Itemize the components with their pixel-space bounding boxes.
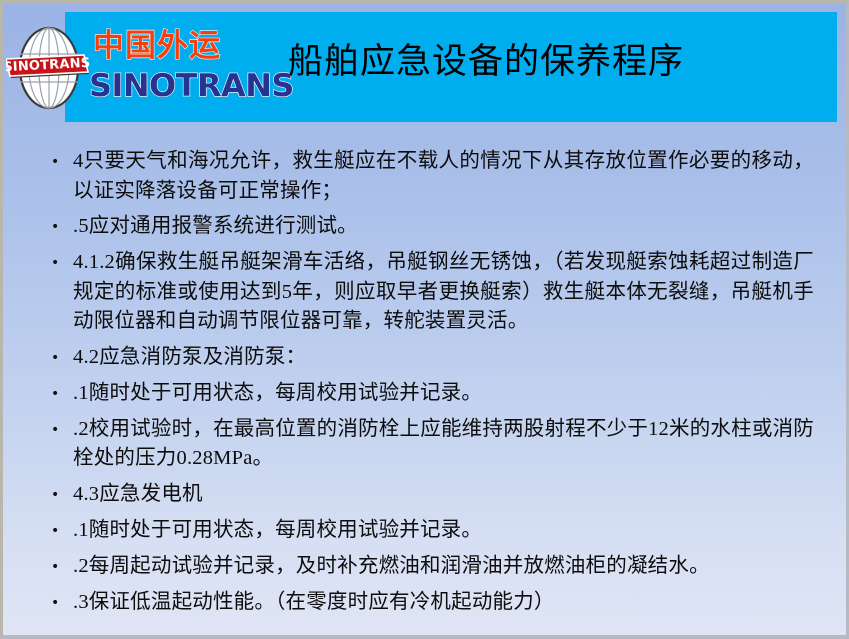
- list-item: • 4只要天气和海况允许，救生艇应在不载人的情况下从其存放位置作必要的移动，以证…: [39, 147, 814, 206]
- bullet-glyph-icon: •: [39, 212, 73, 242]
- list-item-text: .5应对通用报警系统进行测试。: [73, 212, 814, 242]
- bullet-glyph-icon: •: [39, 588, 73, 618]
- list-item: • .1随时处于可用状态，每周校用试验并记录。: [39, 379, 814, 409]
- wordmark-english: SINOTRANS: [89, 67, 294, 105]
- list-item-text: 4.3应急发电机: [73, 480, 814, 510]
- list-item: • 4.1.2确保救生艇吊艇架滑车活络，吊艇钢丝无锈蚀，（若发现艇索蚀耗超过制造…: [39, 248, 814, 337]
- sinotrans-globe-logo-icon: SINOTRANS: [6, 21, 92, 115]
- list-item-text: 4只要天气和海况允许，救生艇应在不载人的情况下从其存放位置作必要的移动，以证实降…: [73, 147, 814, 206]
- list-item-text: .1随时处于可用状态，每周校用试验并记录。: [73, 379, 814, 409]
- list-item: • .1随时处于可用状态，每周校用试验并记录。: [39, 516, 814, 546]
- bullet-glyph-icon: •: [39, 415, 73, 445]
- list-item: • .5应对通用报警系统进行测试。: [39, 212, 814, 242]
- slide-body-bullet-list: • 4只要天气和海况允许，救生艇应在不载人的情况下从其存放位置作必要的移动，以证…: [39, 147, 814, 624]
- list-item: • 4.3应急发电机: [39, 480, 814, 510]
- list-item: • .2校用试验时，在最高位置的消防栓上应能维持两股射程不少于12米的水柱或消防…: [39, 415, 814, 474]
- bullet-glyph-icon: •: [39, 147, 73, 177]
- list-item-text: 4.1.2确保救生艇吊艇架滑车活络，吊艇钢丝无锈蚀，（若发现艇索蚀耗超过制造厂规…: [73, 248, 814, 337]
- list-item-text: .2校用试验时，在最高位置的消防栓上应能维持两股射程不少于12米的水柱或消防栓处…: [73, 415, 814, 474]
- bullet-glyph-icon: •: [39, 552, 73, 582]
- list-item: • 4.2应急消防泵及消防泵：: [39, 343, 814, 373]
- wordmark-chinese: 中国外运: [93, 27, 221, 65]
- list-item-text: .2每周起动试验并记录，及时补充燃油和润滑油并放燃油柜的凝结水。: [73, 552, 814, 582]
- bullet-glyph-icon: •: [39, 248, 73, 278]
- presentation-slide: SINOTRANS 中国外运 SINOTRANS 船舶应急设备的保养程序 • 4…: [0, 0, 849, 639]
- bullet-glyph-icon: •: [39, 516, 73, 546]
- slide-title: 船舶应急设备的保养程序: [288, 41, 684, 83]
- list-item: • .2每周起动试验并记录，及时补充燃油和润滑油并放燃油柜的凝结水。: [39, 552, 814, 582]
- sinotrans-wordmark: 中国外运 SINOTRANS: [89, 27, 254, 115]
- bullet-glyph-icon: •: [39, 480, 73, 510]
- bullet-glyph-icon: •: [39, 343, 73, 373]
- bullet-glyph-icon: •: [39, 379, 73, 409]
- list-item-text: 4.2应急消防泵及消防泵：: [73, 343, 814, 373]
- list-item-text: .3保证低温起动性能。（在零度时应有冷机起动能力）: [73, 588, 814, 618]
- list-item-text: .1随时处于可用状态，每周校用试验并记录。: [73, 516, 814, 546]
- list-item: • .3保证低温起动性能。（在零度时应有冷机起动能力）: [39, 588, 814, 618]
